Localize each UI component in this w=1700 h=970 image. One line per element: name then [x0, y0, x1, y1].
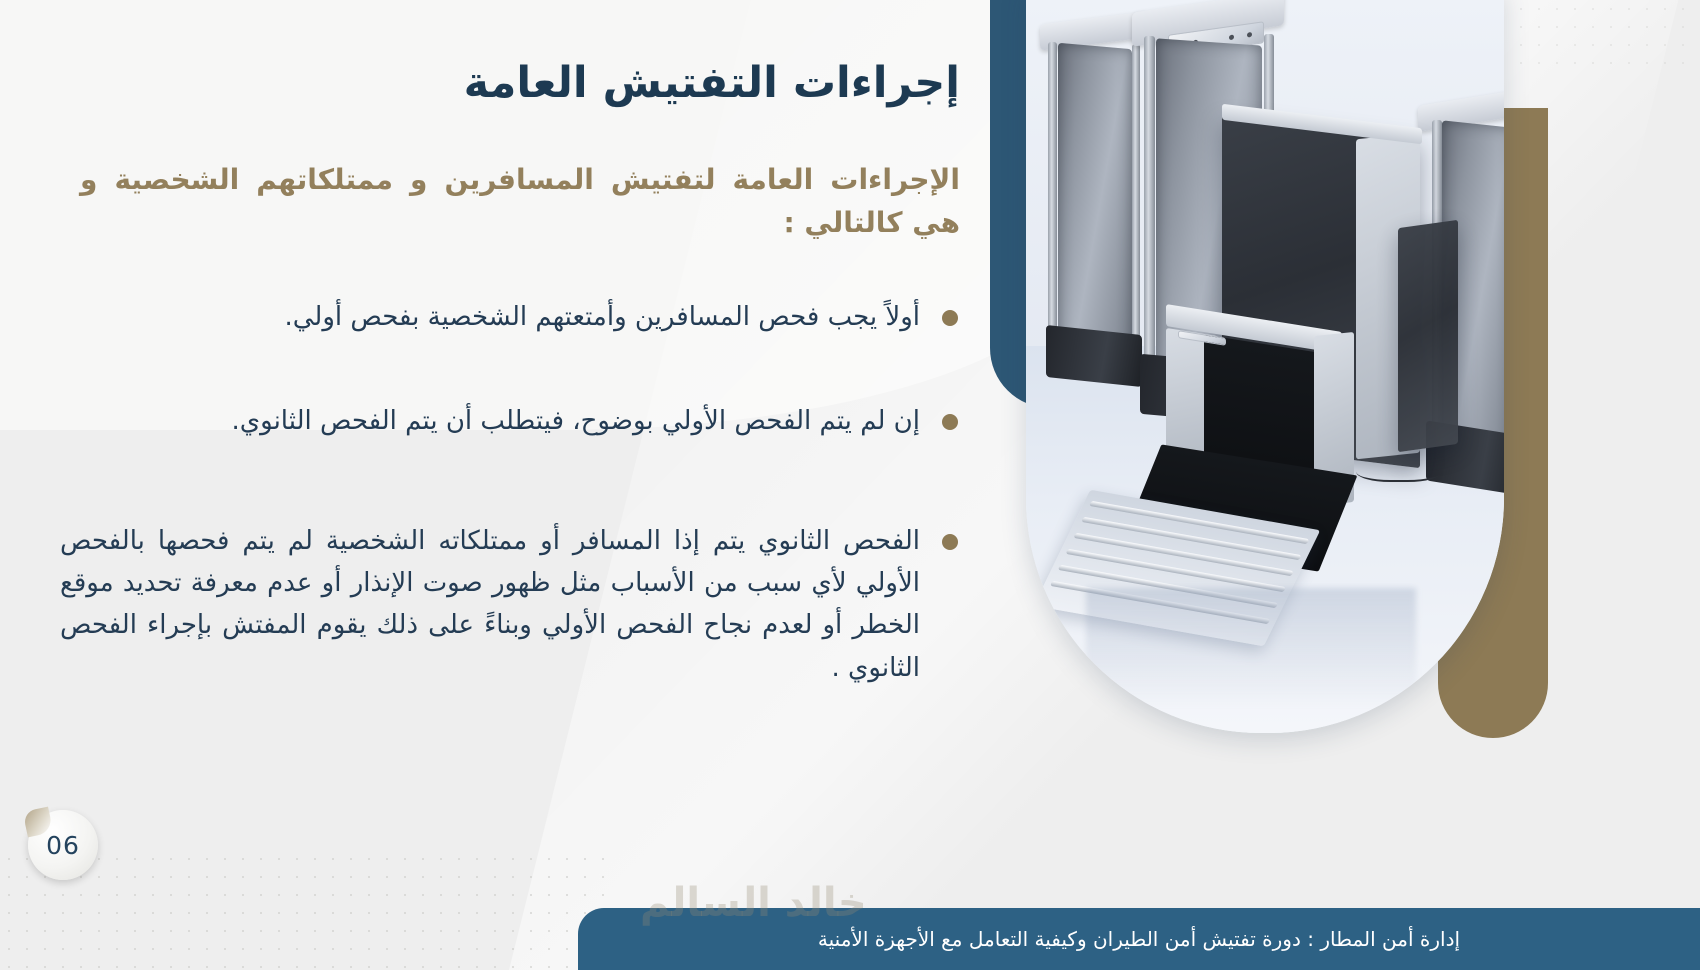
xray-machine-rear-unit [1398, 220, 1458, 452]
footer-text: إدارة أمن المطار : دورة تفتيش أمن الطيرا… [818, 927, 1460, 951]
floor-reflection [1086, 588, 1416, 708]
slide-canvas: إجراءات التفتيش العامة الإجراءات العامة … [0, 0, 1700, 970]
list-item-text: إن لم يتم الفحص الأولي بوضوح، فيتطلب أن … [232, 406, 920, 436]
slide-content: إجراءات التفتيش العامة الإجراءات العامة … [40, 0, 985, 970]
list-item: أولاً يجب فحص المسافرين وأمتعتهم الشخصية… [60, 296, 960, 338]
footer-bar: إدارة أمن المطار : دورة تفتيش أمن الطيرا… [578, 908, 1700, 970]
security-screening-photo [1026, 0, 1504, 733]
list-item-text: الفحص الثانوي يتم إذا المسافر أو ممتلكات… [60, 526, 920, 682]
page-title: إجراءات التفتيش العامة [464, 58, 960, 108]
list-item: إن لم يتم الفحص الأولي بوضوح، فيتطلب أن … [60, 400, 960, 442]
list-item: الفحص الثانوي يتم إذا المسافر أو ممتلكات… [60, 520, 960, 688]
list-item-text: أولاً يجب فحص المسافرين وأمتعتهم الشخصية… [284, 302, 920, 332]
bullet-dot-icon [942, 414, 958, 430]
subtitle-text: الإجراءات العامة لتفتيش المسافرين و ممتل… [80, 158, 960, 245]
page-number: 06 [28, 810, 98, 880]
bullet-dot-icon [942, 310, 958, 326]
power-cable [1356, 456, 1442, 482]
photo-panel [1018, 0, 1518, 758]
bullet-list: أولاً يجب فحص المسافرين وأمتعتهم الشخصية… [60, 296, 960, 689]
page-number-badge: 06 [28, 810, 98, 880]
bullet-dot-icon [942, 534, 958, 550]
